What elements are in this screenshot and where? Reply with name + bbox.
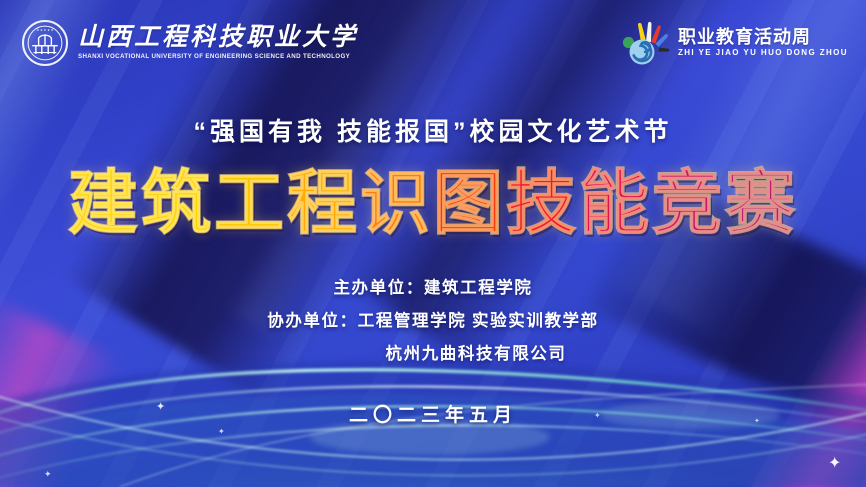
- svg-text:★ ★ ★ ★ ★: ★ ★ ★ ★ ★: [37, 28, 54, 32]
- title-char-4: 识: [360, 167, 433, 241]
- title-char-1: 筑: [141, 167, 214, 241]
- title-char-7: 能: [579, 167, 652, 241]
- colorful-hand-spiral-icon: [619, 20, 671, 66]
- university-brand: ★ ★ ★ ★ ★ 山西工程科技职业大学 SHANXI VOCATIONAL U…: [22, 20, 358, 66]
- title-char-3: 程: [287, 167, 360, 241]
- poster-header: ★ ★ ★ ★ ★ 山西工程科技职业大学 SHANXI VOCATIONAL U…: [0, 0, 866, 85]
- title-char-0: 建: [68, 167, 141, 241]
- poster-subtitle: “强国有我 技能报国”校园文化艺术节: [0, 112, 866, 148]
- campaign-name-cn: 职业教育活动周: [678, 28, 848, 46]
- organizer-line-coorganizer: 协办单位：工程管理学院 实验实训教学部: [0, 304, 866, 337]
- organizer-line-company: 杭州九曲科技有限公司: [0, 337, 866, 370]
- campaign-names: 职业教育活动周 ZHI YE JIAO YU HUO DONG ZHOU: [678, 28, 848, 57]
- poster-content: “强国有我 技能报国”校园文化艺术节 建筑工程识图技能竞赛 主办单位：建筑工程学…: [0, 95, 866, 427]
- title-char-9: 赛: [725, 167, 798, 241]
- poster-date: 二〇二三年五月: [0, 400, 866, 427]
- campaign-brand: 职业教育活动周 ZHI YE JIAO YU HUO DONG ZHOU: [619, 20, 848, 66]
- title-char-5: 图: [433, 167, 506, 241]
- title-char-2: 工: [214, 167, 287, 241]
- university-name-cn: 山西工程科技职业大学: [78, 25, 358, 51]
- title-char-8: 竞: [652, 167, 725, 241]
- university-names: 山西工程科技职业大学 SHANXI VOCATIONAL UNIVERSITY …: [78, 25, 358, 59]
- university-name-en: SHANXI VOCATIONAL UNIVERSITY OF ENGINEER…: [78, 53, 358, 60]
- title-char-6: 技: [506, 167, 579, 241]
- university-seal-icon: ★ ★ ★ ★ ★: [22, 20, 68, 66]
- organizer-block: 主办单位：建筑工程学院 协办单位：工程管理学院 实验实训教学部 杭州九曲科技有限…: [0, 271, 866, 370]
- campaign-name-pinyin: ZHI YE JIAO YU HUO DONG ZHOU: [678, 48, 848, 57]
- poster-canvas: ✦ ✦ ✦ ✦ ✦ ✦ ★ ★ ★ ★ ★ 山西工程科技职业大学 SHANXI …: [0, 0, 866, 487]
- poster-main-title: 建筑工程识图技能竞赛: [0, 167, 866, 241]
- organizer-line-host: 主办单位：建筑工程学院: [0, 271, 866, 304]
